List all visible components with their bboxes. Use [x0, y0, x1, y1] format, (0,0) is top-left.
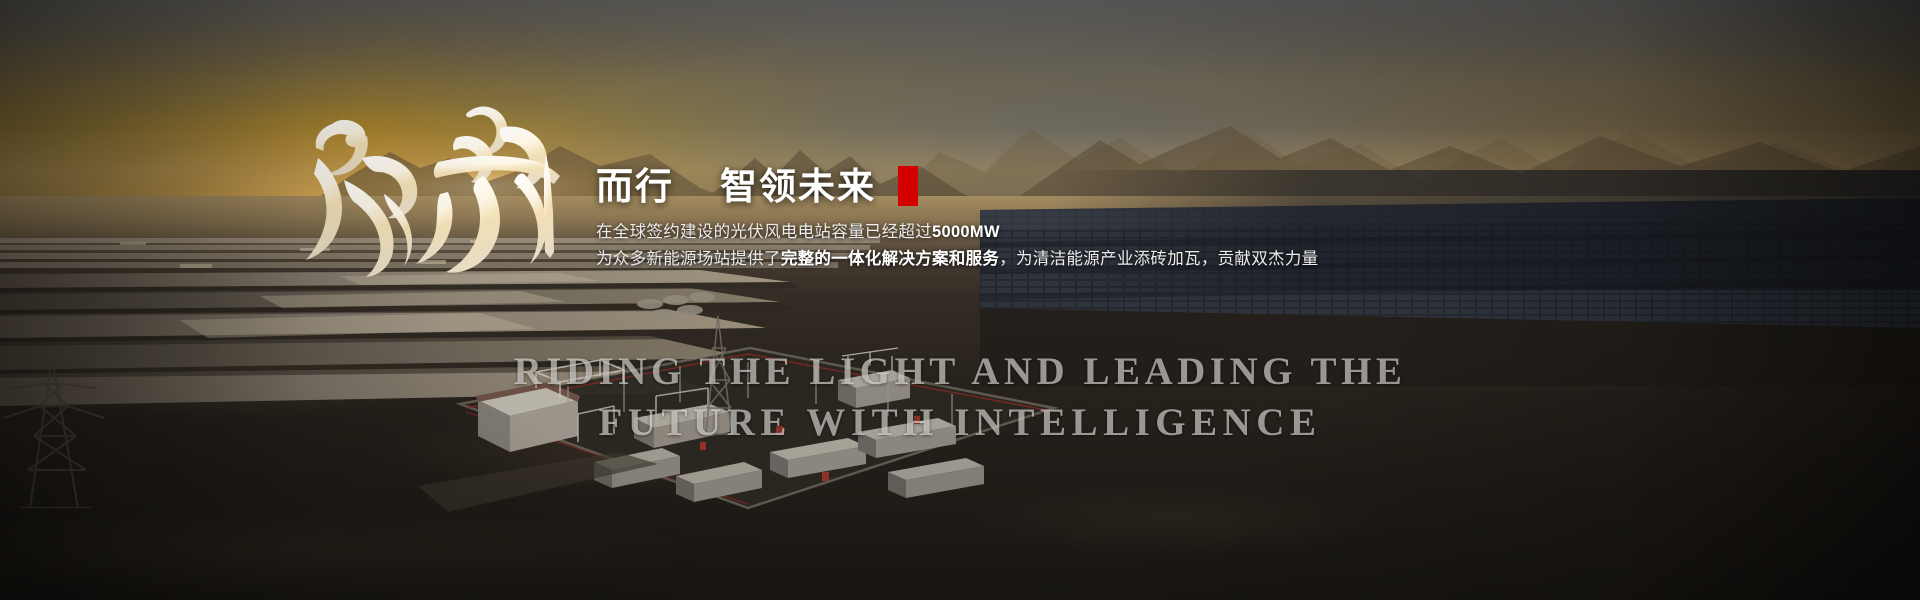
transmission-tower-icon: [0, 358, 110, 508]
subtitle-line-2-suffix: ，为清洁能源产业添砖加瓦，贡献双杰力量: [999, 250, 1318, 268]
hero-banner: 而行 智领未来 在全球签约建设的光伏风电电站容量已经超过5000MW 为众多新能…: [0, 0, 1920, 600]
headline-part-1: 而行: [596, 168, 674, 205]
headline-part-2: 智领未来: [720, 168, 876, 205]
subtitle-line-2-highlight: 完整的一体化解决方案和服务: [781, 250, 999, 268]
subtitle-capacity-value: 5000MW: [932, 223, 1000, 241]
subtitle-line-2-prefix: 为众多新能源场站提供了: [596, 250, 781, 268]
subtitle-line-1: 在全球签约建设的光伏风电电站容量已经超过5000MW: [596, 219, 1496, 246]
copy-block: 而行 智领未来 在全球签约建设的光伏风电电站容量已经超过5000MW 为众多新能…: [596, 166, 1496, 272]
subtitle-line-2: 为众多新能源场站提供了完整的一体化解决方案和服务，为清洁能源产业添砖加瓦，贡献双…: [596, 246, 1496, 273]
red-accent-block: [898, 166, 918, 206]
headline: 而行 智领未来: [596, 166, 1496, 206]
subtitle-line-1-text: 在全球签约建设的光伏风电电站容量已经超过: [596, 223, 932, 241]
substation-facility: [418, 276, 1058, 516]
